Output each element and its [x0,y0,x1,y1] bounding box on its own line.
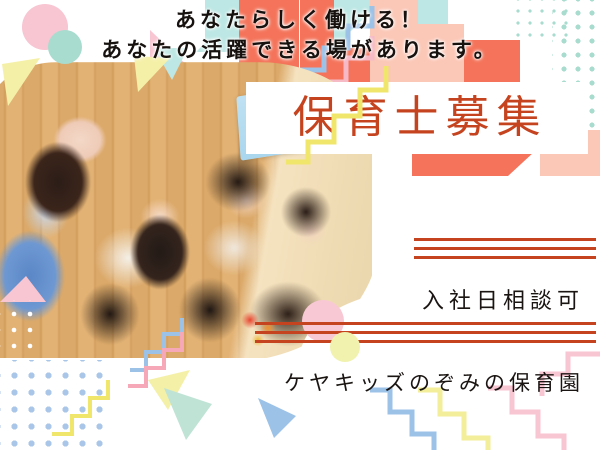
coral-bar-deco [412,152,508,176]
blue-triangle-bottom [256,396,298,440]
yellow-zigzag [282,64,412,164]
stripes-lower [255,322,596,343]
recruitment-poster: あなたらしく働ける！ あなたの活躍できる場があります。 保育士募集 入社日相談可… [0,0,600,450]
entry-date-note: 入社日相談可 [422,283,584,315]
pink-zigzag-photo [124,330,194,400]
yellow-circle-mid [330,332,360,362]
blue-dot-grid-photo [0,300,34,358]
coral-triangle-deco [508,152,534,176]
stripes-upper [414,238,596,259]
facility-name: ケヤキッズのぞみの保育園 [284,367,584,397]
yellow-zigzag-bottom-left [46,378,126,448]
headline: あなたらしく働ける！ あなたの活躍できる場があります。 [0,6,600,66]
